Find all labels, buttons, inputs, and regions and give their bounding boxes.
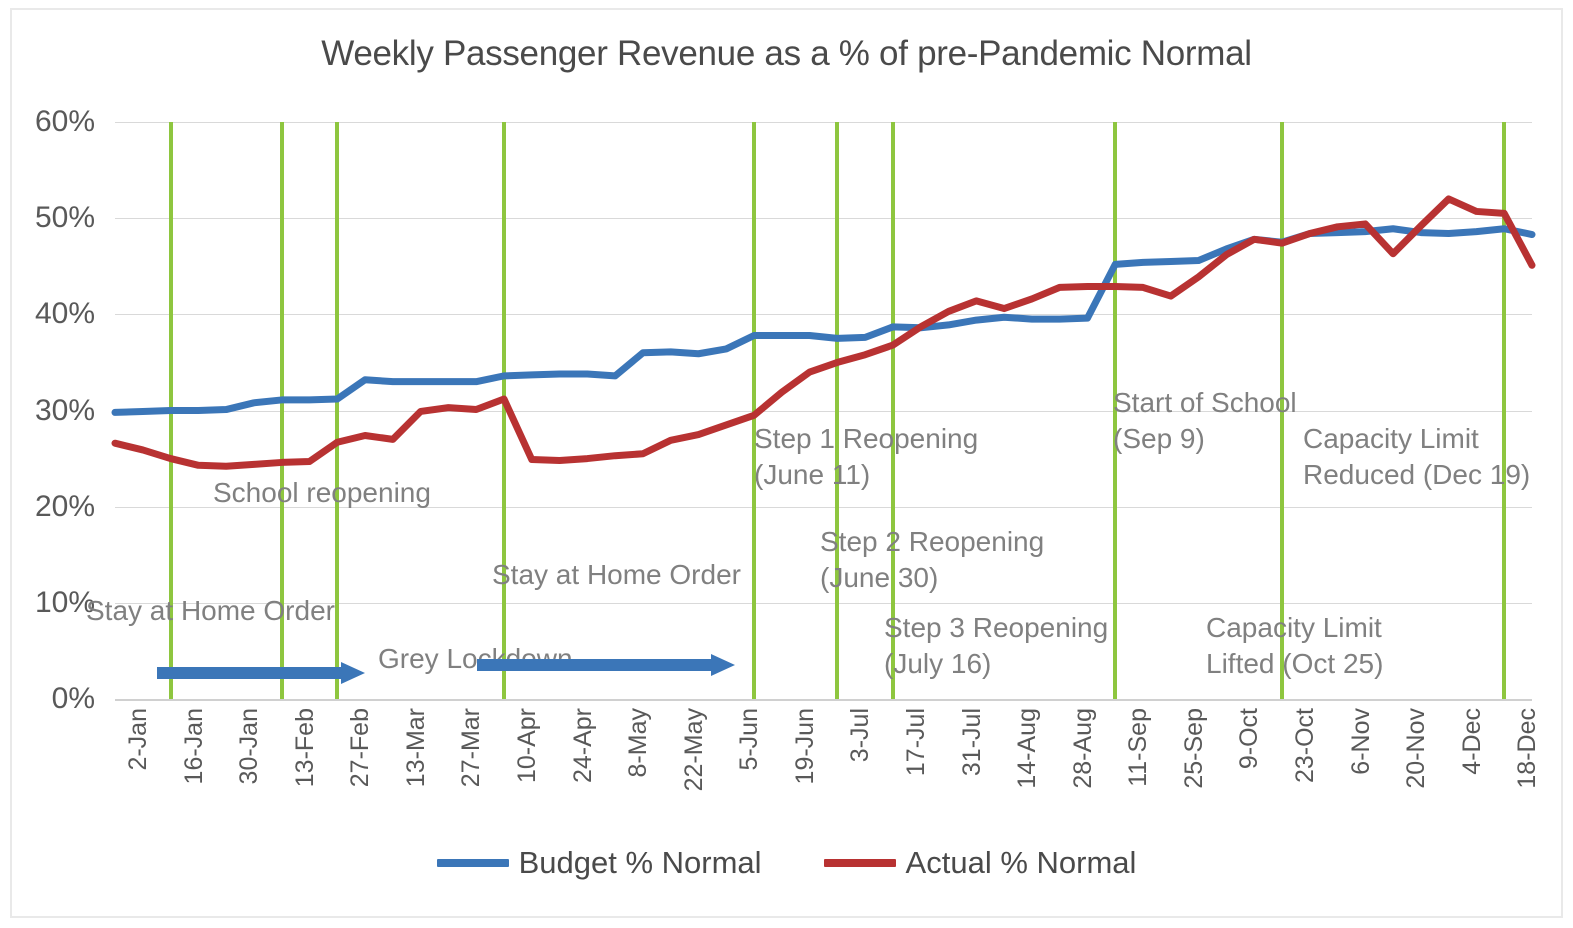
annotation-step-3-reopening: Step 3 Reopening (July 16) [884,610,1108,681]
annotation-step-2-reopening: Step 2 Reopening (June 30) [820,524,1044,595]
legend-swatch-icon [824,859,896,867]
x-axis-tick-label: 20-Nov [1402,708,1431,789]
y-axis-tick-label: 10% [0,586,95,620]
x-axis-tick-label: 8-May [624,708,653,777]
annotation-school-reopening: School reopening [213,475,431,511]
x-axis-tick-label: 14-Aug [1013,708,1042,789]
x-axis-tick-label: 23-Oct [1291,708,1320,783]
y-axis-tick-label: 20% [0,490,95,524]
y-axis-tick-label: 40% [0,297,95,331]
y-axis-tick-label: 0% [0,682,95,716]
legend-item[interactable]: Actual % Normal [824,845,1137,881]
x-axis-tick-label: 31-Jul [958,708,987,776]
x-axis-tick-label: 4-Dec [1458,708,1487,775]
annotation-stay-at-home-order-1: Stay at Home Order [86,593,335,629]
y-axis-tick-label: 30% [0,394,95,428]
x-axis-tick-label: 28-Aug [1069,708,1098,789]
x-axis-tick-label: 17-Jul [902,708,931,776]
y-axis-tick-label: 50% [0,201,95,235]
legend-swatch-icon [437,859,509,867]
annotation-capacity-limit-lifted: Capacity Limit Lifted (Oct 25) [1206,610,1383,681]
chart-title: Weekly Passenger Revenue as a % of pre-P… [0,34,1573,74]
x-axis-tick-label: 30-Jan [235,708,264,784]
x-axis-tick-label: 22-May [680,708,709,791]
legend-label: Actual % Normal [906,845,1137,881]
x-axis-tick-label: 6-Nov [1347,708,1376,775]
x-axis-tick-label: 24-Apr [569,708,598,783]
legend-label: Budget % Normal [519,845,762,881]
chart-container: Weekly Passenger Revenue as a % of pre-P… [0,0,1573,928]
x-axis-tick-label: 27-Mar [457,708,486,787]
x-axis-tick-label: 13-Feb [291,708,320,787]
x-axis-tick-label: 16-Jan [180,708,209,784]
legend-item[interactable]: Budget % Normal [437,845,762,881]
gridline [115,699,1532,701]
series-line-budget-normal [115,229,1532,413]
annotation-start-of-school: Start of School (Sep 9) [1113,385,1297,456]
arrow-grey-lockdown [477,654,735,676]
x-axis-tick-label: 19-Jun [791,708,820,784]
x-axis-tick-label: 9-Oct [1235,708,1264,769]
x-axis-tick-label: 13-Mar [402,708,431,787]
annotation-capacity-limit-reduced: Capacity Limit Reduced (Dec 19) [1303,421,1530,492]
x-axis-tick-label: 11-Sep [1124,708,1153,787]
x-axis-tick-label: 10-Apr [513,708,542,783]
annotation-stay-at-home-order-2: Stay at Home Order [492,557,741,593]
x-axis-tick-label: 3-Jul [846,708,875,762]
x-axis-tick-label: 2-Jan [124,708,153,771]
chart-legend: Budget % NormalActual % Normal [0,845,1573,881]
x-axis-tick-label: 25-Sep [1180,708,1209,789]
x-axis-tick-label: 27-Feb [346,708,375,787]
annotation-step-1-reopening: Step 1 Reopening (June 11) [754,421,978,492]
arrow-stay-at-home-order [157,662,365,684]
y-axis-tick-label: 60% [0,105,95,139]
x-axis-tick-label: 18-Dec [1513,708,1542,789]
x-axis-tick-label: 5-Jun [735,708,764,771]
